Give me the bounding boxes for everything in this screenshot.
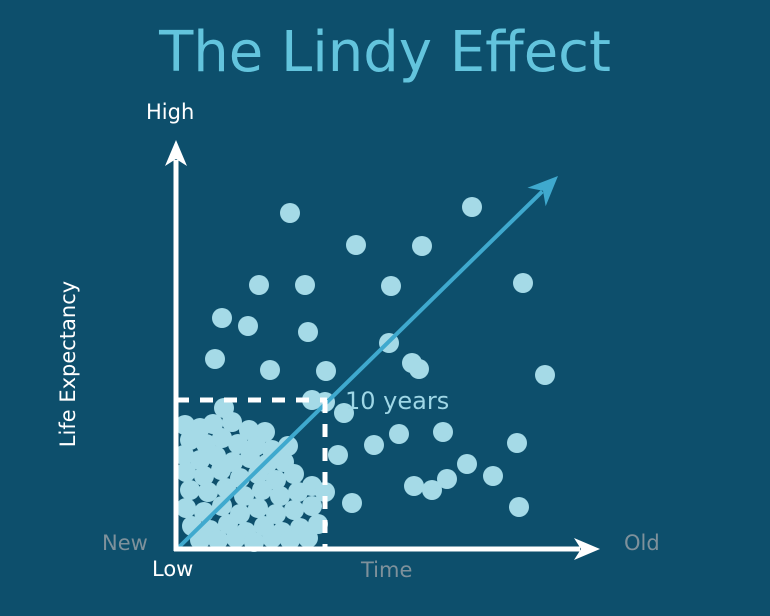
scatter-point xyxy=(404,476,424,496)
y-axis-top-label: High xyxy=(146,100,194,124)
scatter-point xyxy=(249,275,269,295)
scatter-point xyxy=(328,445,348,465)
scatter-point xyxy=(284,500,304,520)
y-axis-bottom-label: Low xyxy=(152,557,193,581)
scatter-point xyxy=(262,528,282,548)
scatter-point xyxy=(342,493,362,513)
scatter-point xyxy=(205,349,225,369)
scatter-point xyxy=(180,480,200,500)
scatter-point xyxy=(284,464,304,484)
scatter-point xyxy=(211,460,231,480)
scatter-point xyxy=(248,498,268,518)
scatter-point xyxy=(260,360,280,380)
scatter-point xyxy=(509,497,529,517)
scatter-point xyxy=(316,361,336,381)
scatter-point xyxy=(437,469,457,489)
x-axis-right-label: Old xyxy=(624,531,660,555)
scatter-point xyxy=(212,308,232,328)
scatter-point xyxy=(295,275,315,295)
scatter-point xyxy=(176,498,196,518)
scatter-point xyxy=(252,480,272,500)
y-axis-title: Life Expectancy xyxy=(56,244,80,484)
scatter-point xyxy=(507,433,527,453)
threshold-annotation: 10 years xyxy=(345,387,449,415)
scatter-point xyxy=(462,197,482,217)
scatter-point xyxy=(412,236,432,256)
trend-arrow-layer xyxy=(178,176,558,548)
scatter-point xyxy=(346,235,366,255)
scatter-point xyxy=(226,528,246,548)
scatter-point xyxy=(381,276,401,296)
scatter-point xyxy=(483,466,503,486)
scatter-point xyxy=(457,454,477,474)
scatter-point xyxy=(389,424,409,444)
scatter-point xyxy=(176,462,196,482)
lindy-effect-figure: The Lindy Effect High Low New Old Time L… xyxy=(0,0,770,616)
scatter-point xyxy=(409,359,429,379)
scatter-point xyxy=(298,528,318,548)
scatter-point xyxy=(513,273,533,293)
x-axis-title: Time xyxy=(361,558,412,582)
scatter-point xyxy=(433,422,453,442)
scatter-point xyxy=(535,365,555,385)
scatter-point xyxy=(298,322,318,342)
scatter-point xyxy=(280,203,300,223)
scatter-point xyxy=(238,316,258,336)
scatter-point xyxy=(364,435,384,455)
x-axis-left-label: New xyxy=(102,531,148,555)
scatter-plot-canvas xyxy=(0,0,770,616)
page-title: The Lindy Effect xyxy=(0,22,770,84)
